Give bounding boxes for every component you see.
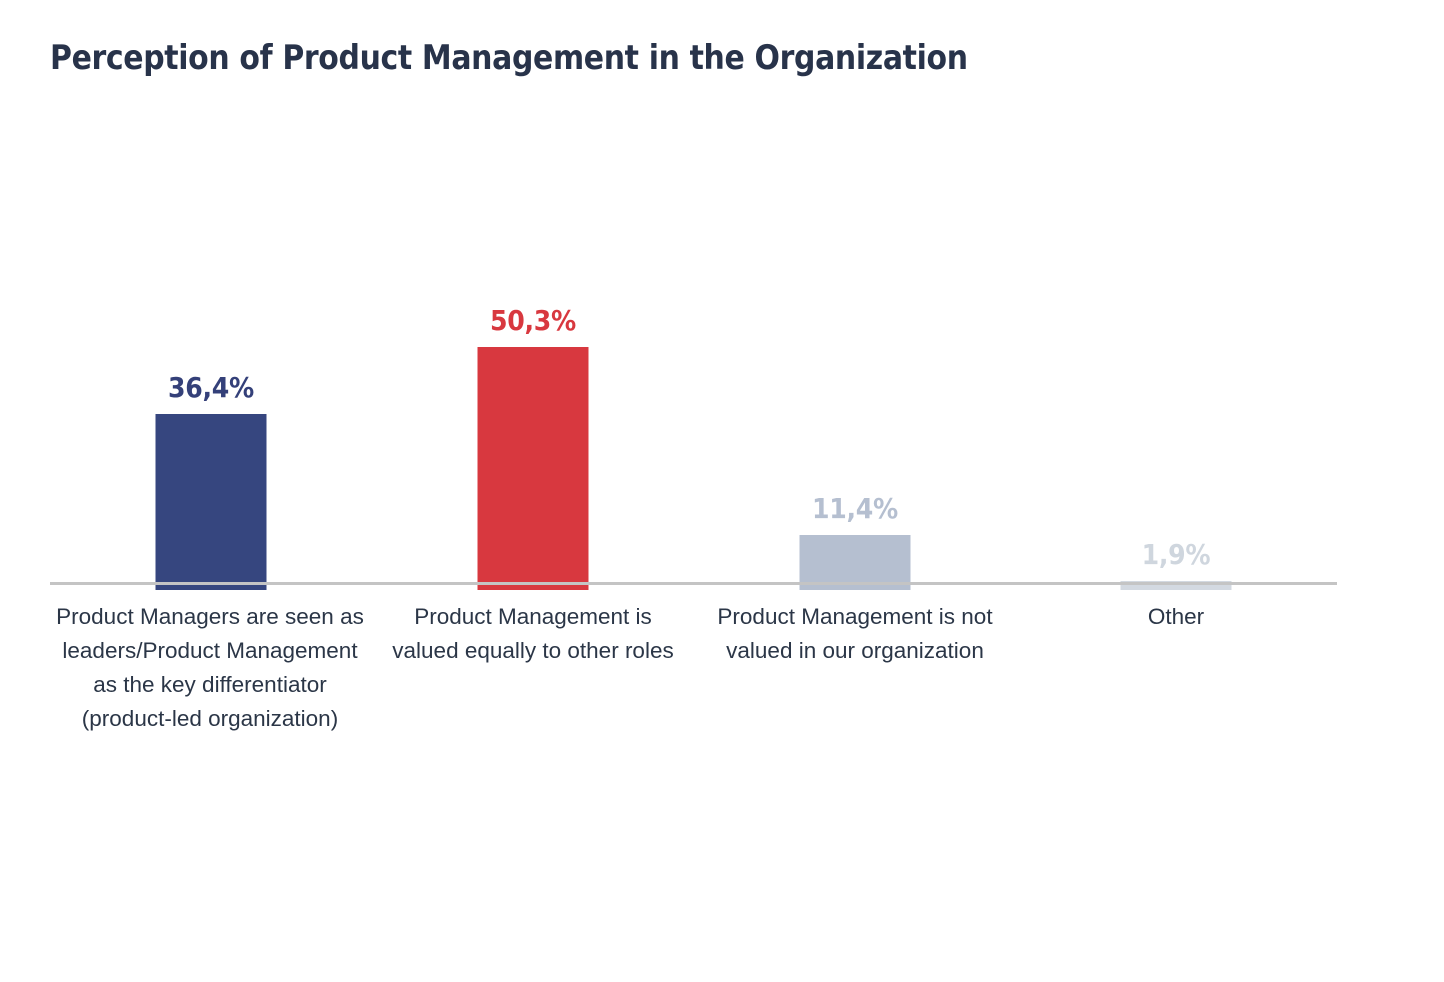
bar-group-1: 36,4% [50,90,372,590]
value-label-3: 11,4% [812,492,898,525]
plot-area: 36,4% 50,3% 11,4% 1,9% Product Managers … [0,0,1444,982]
bar-group-4: 1,9% [1015,90,1337,590]
category-label-4: Other [1021,600,1331,634]
bar-group-3: 11,4% [694,90,1016,590]
value-label-1: 36,4% [168,371,254,404]
value-label-4: 1,9% [1142,538,1211,571]
x-axis-line [50,582,1337,585]
category-label-3: Product Management is not valued in our … [700,600,1010,668]
category-label-1: Product Managers are seen as leaders/Pro… [55,600,365,736]
chart-canvas: Perception of Product Management in the … [0,0,1444,982]
bar-group-2: 50,3% [372,90,694,590]
value-label-2: 50,3% [490,304,576,337]
bar-1[interactable] [156,414,267,590]
category-label-2: Product Management is valued equally to … [378,600,688,668]
bar-2[interactable] [478,347,589,590]
